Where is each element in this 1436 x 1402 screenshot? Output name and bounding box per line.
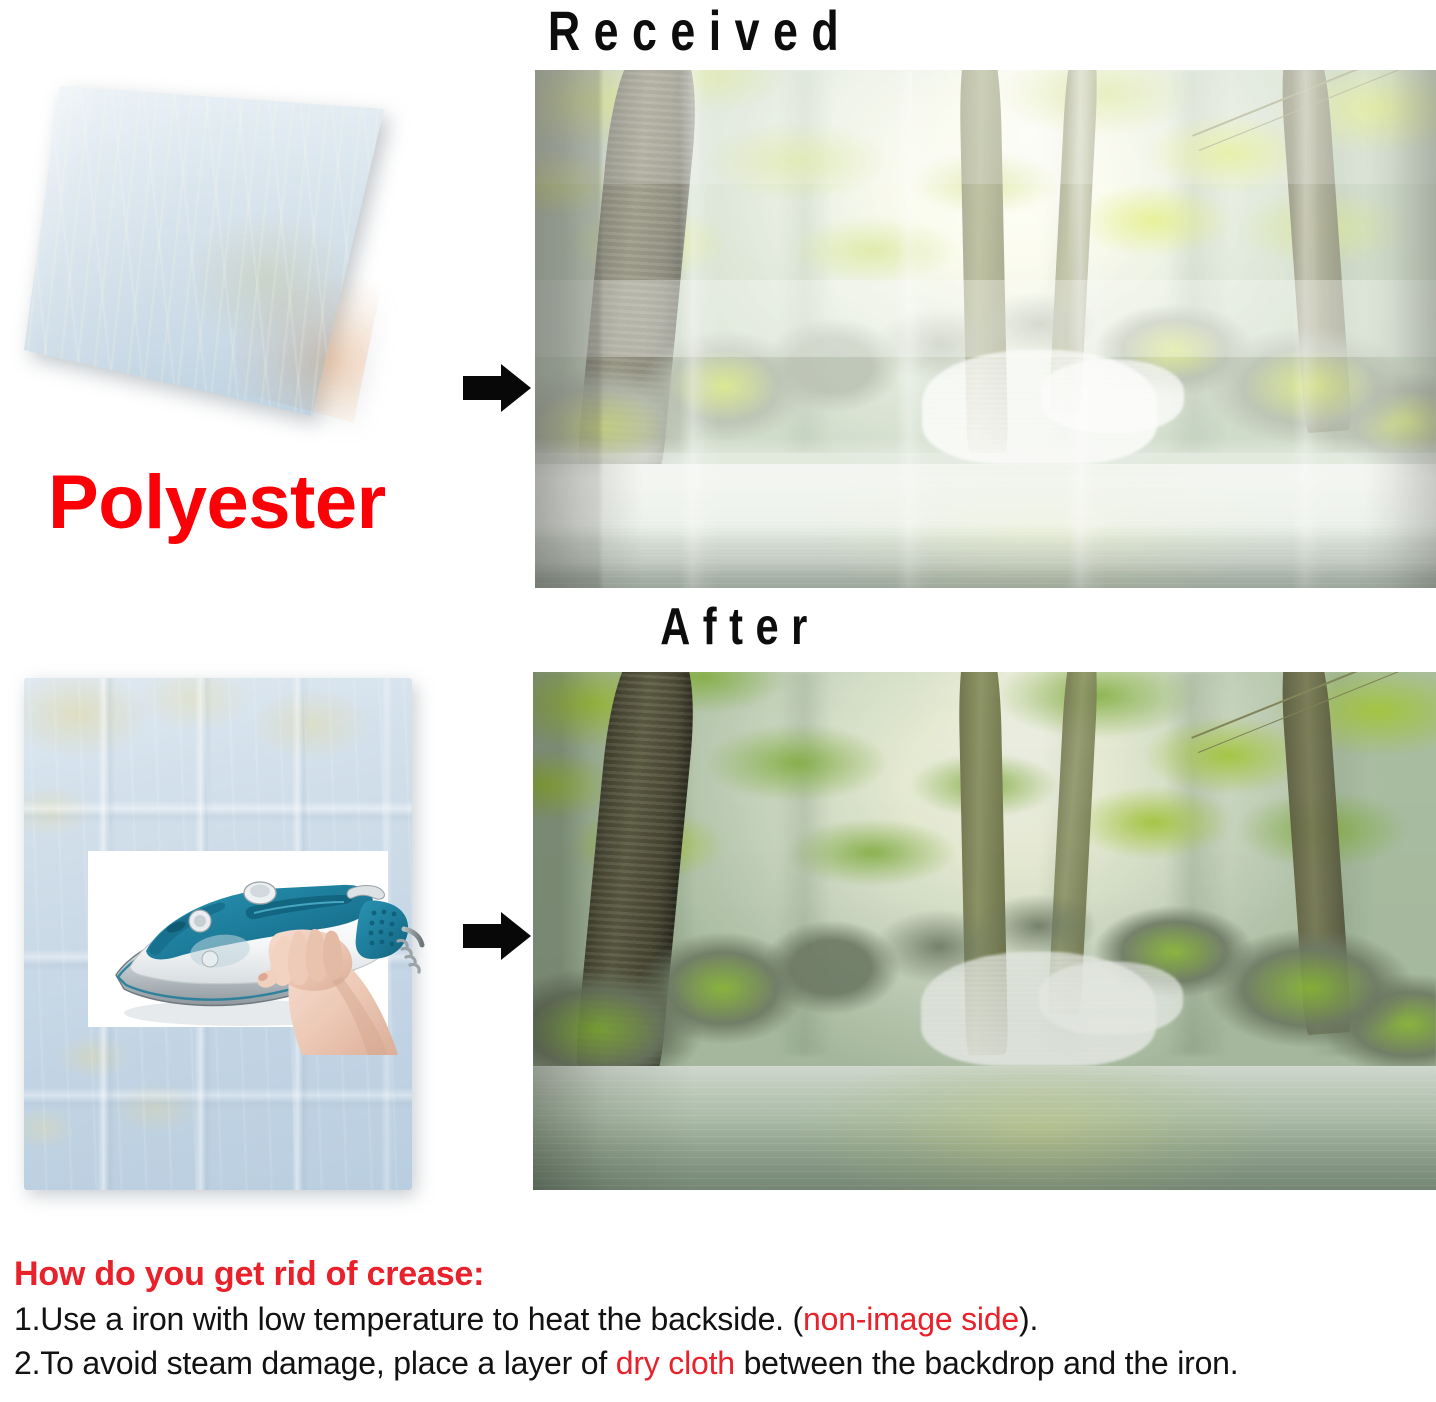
arrow-right-icon (463, 912, 533, 960)
polyester-label: Polyester (48, 462, 386, 544)
iron-and-hand-image (92, 855, 422, 1055)
iron-spray-button (202, 951, 218, 967)
instructions-heading: How do you get rid of crease: (14, 1252, 1434, 1296)
instruction-step-2: 2.To avoid steam damage, place a layer o… (14, 1342, 1434, 1384)
step1-suffix: ). (1019, 1301, 1038, 1337)
arrow-head (501, 912, 531, 960)
step1-prefix: 1.Use a iron with low temperature to hea… (14, 1301, 803, 1337)
folded-fabric-image (24, 86, 384, 416)
step1-highlight: non-image side (803, 1301, 1019, 1337)
arrow-shaft (463, 924, 505, 948)
instructions-block: How do you get rid of crease: 1.Use a ir… (14, 1252, 1434, 1384)
arrow-right-icon (463, 364, 533, 412)
instruction-step-1: 1.Use a iron with low temperature to hea… (14, 1298, 1434, 1340)
forest-color-grade (535, 70, 1436, 588)
after-heading: After (596, 600, 884, 654)
received-heading: Received (484, 2, 916, 60)
arrow-head (501, 364, 531, 412)
arrow-shaft (463, 376, 505, 400)
step2-highlight: dry cloth (616, 1345, 735, 1381)
after-backdrop-photo (533, 672, 1436, 1190)
step2-prefix: 2.To avoid steam damage, place a layer o… (14, 1345, 616, 1381)
step2-suffix: between the backdrop and the iron. (735, 1345, 1239, 1381)
product-care-infographic: Received Polyester Afte (0, 0, 1436, 1402)
forest-color-grade (533, 672, 1436, 1190)
received-backdrop-photo (535, 70, 1436, 588)
